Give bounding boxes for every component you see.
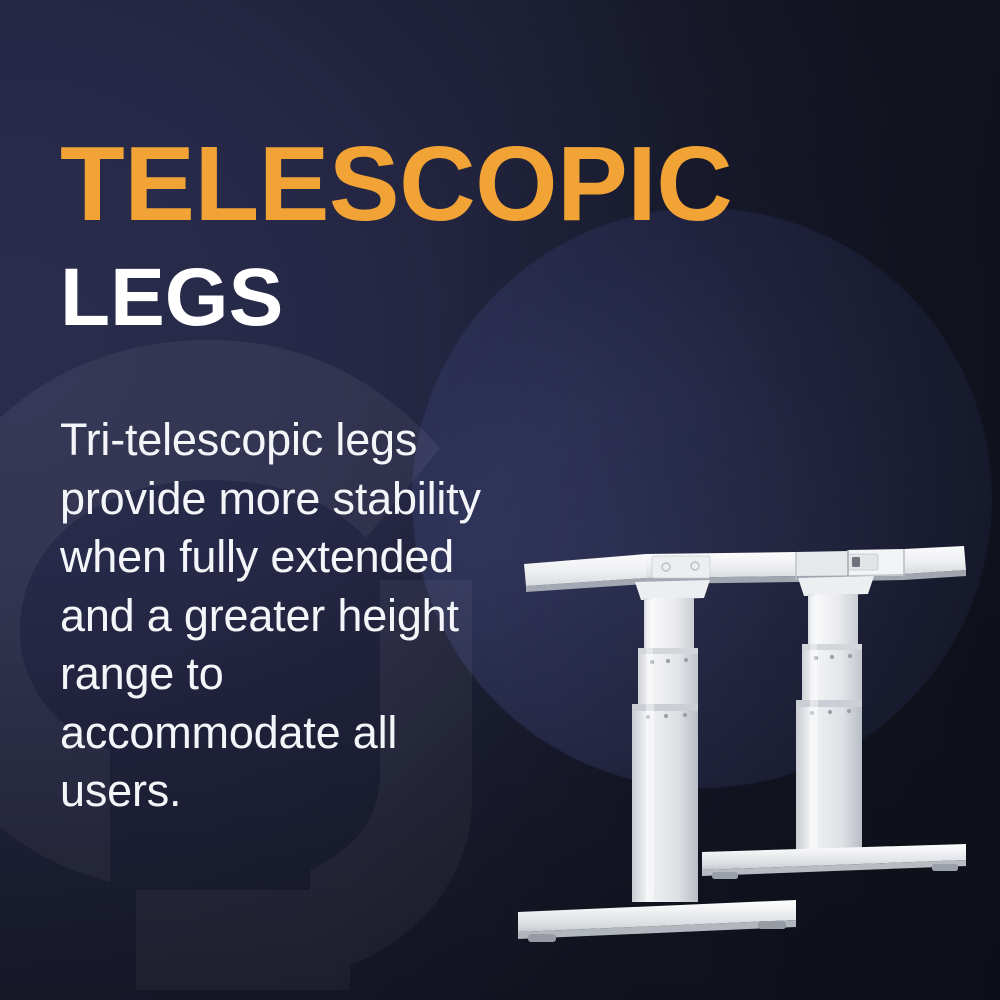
left-telescopic-leg — [632, 580, 710, 902]
right-foot-base — [702, 844, 966, 879]
desk-top-rail — [524, 546, 966, 592]
page-title: TELESCOPIC LEGS — [60, 133, 530, 337]
title-line-accent: TELESCOPIC — [60, 133, 530, 236]
copy-block: TELESCOPIC LEGS Tri-telescopic legs prov… — [60, 0, 530, 821]
right-telescopic-leg — [796, 576, 874, 854]
title-line-secondary: LEGS — [60, 258, 530, 338]
body-paragraph: Tri-telescopic legs provide more stabili… — [60, 411, 490, 821]
left-foot-base — [518, 900, 796, 942]
poster-canvas: TELESCOPIC LEGS Tri-telescopic legs prov… — [0, 0, 1000, 1000]
product-image-desk-frame — [496, 516, 992, 948]
